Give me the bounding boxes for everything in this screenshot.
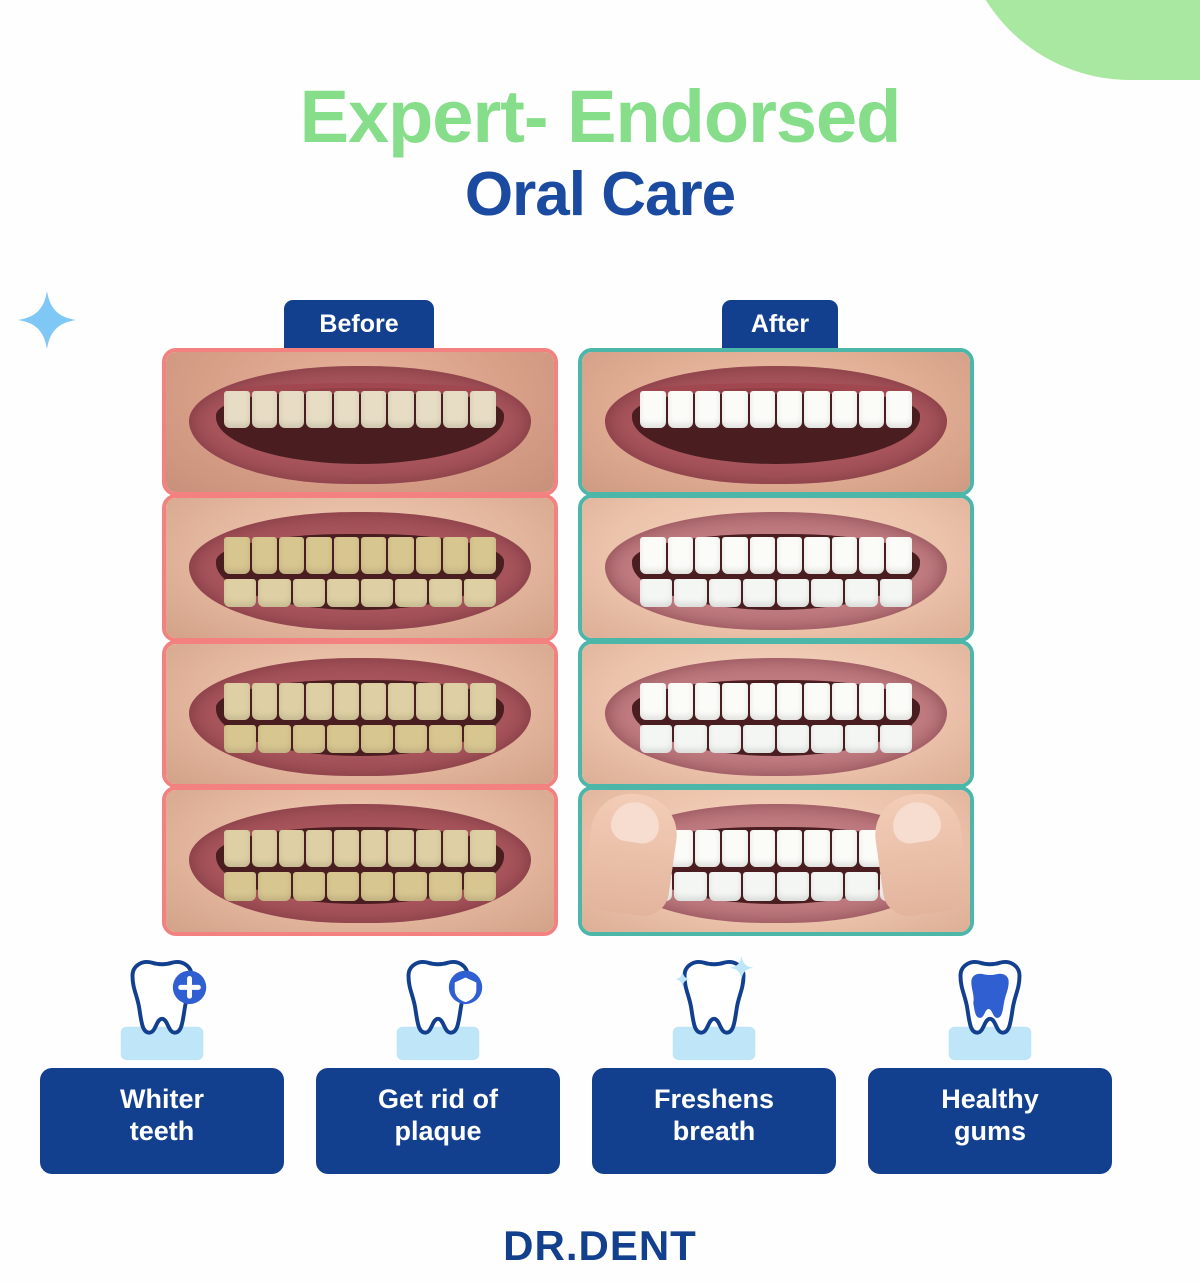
- before-photo-1: [162, 348, 558, 496]
- after-photo-3: [578, 640, 974, 788]
- after-photo-4: [578, 786, 974, 936]
- before-after-grid: [162, 348, 974, 936]
- label-after: After: [722, 300, 838, 348]
- benefit-label-line-2: breath: [598, 1116, 830, 1148]
- after-photo-2: [578, 494, 974, 642]
- benefits-row: Whiter teeth Get rid of plaque: [40, 950, 1160, 1180]
- brand-logo: DR.DENT: [0, 1222, 1200, 1270]
- tooth-plus-icon: [40, 950, 284, 1068]
- benefit-label-line-1: Get rid of: [322, 1084, 554, 1116]
- before-photo-2: [162, 494, 558, 642]
- page-title: Expert- Endorsed Oral Care: [0, 78, 1200, 227]
- headline-line-2: Oral Care: [0, 162, 1200, 227]
- benefit-label-line-1: Whiter: [46, 1084, 278, 1116]
- benefit-label-line-2: gums: [874, 1116, 1106, 1148]
- benefit-label-line-2: plaque: [322, 1116, 554, 1148]
- benefit-card: Whiter teeth: [40, 1068, 284, 1174]
- corner-decoration-blob: [960, 0, 1200, 80]
- sparkle-icon: [12, 285, 82, 355]
- benefit-card: Freshens breath: [592, 1068, 836, 1174]
- label-before: Before: [284, 300, 434, 348]
- benefit-whiter-teeth: Whiter teeth: [40, 950, 284, 1174]
- benefit-get-rid-of-plaque: Get rid of plaque: [316, 950, 560, 1174]
- tooth-shield-icon: [316, 950, 560, 1068]
- after-photo-1: [578, 348, 974, 496]
- before-photo-4: [162, 786, 558, 936]
- benefit-label-line-2: teeth: [46, 1116, 278, 1148]
- tooth-sparkle-icon: [592, 950, 836, 1068]
- benefit-card: Healthy gums: [868, 1068, 1112, 1174]
- benefit-label-line-1: Freshens: [598, 1084, 830, 1116]
- benefit-healthy-gums: Healthy gums: [868, 950, 1112, 1174]
- benefit-freshens-breath: Freshens breath: [592, 950, 836, 1174]
- finger-left: [580, 789, 682, 920]
- headline-line-1: Expert- Endorsed: [0, 78, 1200, 156]
- finger-right: [870, 789, 972, 920]
- tooth-gums-icon: [868, 950, 1112, 1068]
- benefit-card: Get rid of plaque: [316, 1068, 560, 1174]
- benefit-label-line-1: Healthy: [874, 1084, 1106, 1116]
- before-photo-3: [162, 640, 558, 788]
